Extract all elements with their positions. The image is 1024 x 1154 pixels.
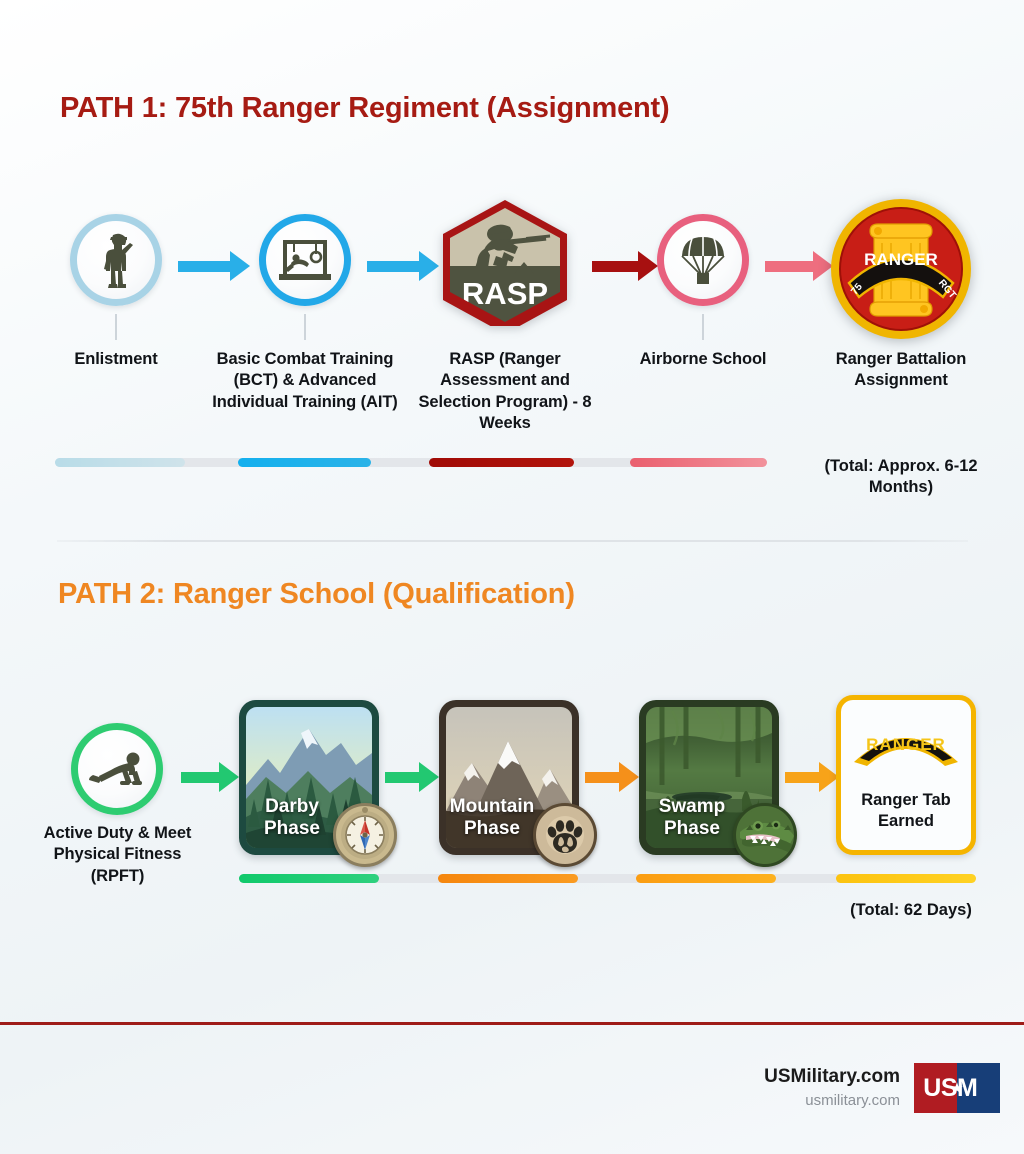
path2-title: PATH 2: Ranger School (Qualification): [58, 578, 575, 611]
phase-card-darby[interactable]: Darby Phase: [239, 700, 379, 855]
path2-seg-3: [636, 874, 776, 883]
caption-ranger-battalion: Ranger Battalion Assignment: [806, 349, 996, 392]
active-duty-ring: [71, 723, 163, 815]
pushup-icon: [89, 751, 145, 787]
section-divider: [57, 540, 968, 542]
path1-seg-4: [630, 458, 767, 467]
caption-bct-ait: Basic Combat Training (BCT) & Advanced I…: [209, 349, 401, 413]
bct-stem: [304, 314, 306, 340]
phase-card-ranger-tab[interactable]: RANGER Ranger Tab Earned: [836, 695, 976, 855]
path1-title: PATH 1: 75th Ranger Regiment (Assignment…: [60, 92, 669, 125]
path2-seg-4: [836, 874, 976, 883]
parachute-icon: [678, 234, 728, 286]
footer-rule: [0, 1022, 1024, 1025]
path1-seg-1: [55, 458, 185, 467]
arrow-mountain-to-swamp: [585, 762, 639, 792]
bear-paw-icon: [533, 803, 597, 867]
caption-airborne: Airborne School: [627, 349, 779, 370]
footer-brand: USMilitary.com: [764, 1066, 900, 1088]
arrow-airborne-to-battalion: [765, 251, 833, 281]
path2-seg-2: [438, 874, 578, 883]
ranger-tab-label: Ranger Tab Earned: [841, 790, 971, 833]
ranger-tab-text: RANGER: [866, 735, 946, 754]
crest-center-text: RANGER: [864, 250, 938, 269]
step-node-airborne[interactable]: [657, 214, 749, 306]
ranger-tab-icon: RANGER: [850, 720, 962, 771]
step-node-active-duty[interactable]: [71, 723, 163, 815]
path1-total: (Total: Approx. 6-12 Months): [806, 456, 996, 499]
arrow-bct-to-rasp: [367, 251, 439, 281]
footer-domain: usmilitary.com: [805, 1092, 900, 1109]
airborne-stem: [702, 314, 704, 340]
path1-seg-2: [238, 458, 371, 467]
arrow-rasp-to-airborne: [592, 251, 658, 281]
airborne-ring: [657, 214, 749, 306]
rasp-hexagon-icon: RASP: [430, 196, 580, 326]
step-node-bct-ait[interactable]: [259, 214, 351, 306]
step-node-enlistment[interactable]: [70, 214, 162, 306]
path1-progress-track: [55, 458, 767, 467]
alligator-icon: [733, 803, 797, 867]
phase-card-mountain[interactable]: Mountain Phase: [439, 700, 579, 855]
logo-star-icon: ★: [950, 1079, 963, 1097]
infographic-canvas: PATH 1: 75th Ranger Regiment (Assignment…: [0, 0, 1024, 1154]
path2-progress-track: [239, 874, 976, 883]
arrow-swamp-to-tab: [785, 762, 839, 792]
ranger-regiment-crest-icon: RANGER 75 RGT: [829, 197, 973, 341]
step-node-rasp[interactable]: RASP: [430, 196, 580, 326]
obstacle-course-icon: [279, 236, 331, 284]
caption-active-duty: Active Duty & Meet Physical Fitness (RPF…: [35, 823, 200, 887]
bct-ring: [259, 214, 351, 306]
compass-icon: [333, 803, 397, 867]
arrow-enlistment-to-bct: [178, 251, 250, 281]
enlistment-ring: [70, 214, 162, 306]
path1-seg-3: [429, 458, 574, 467]
usmilitary-logo[interactable]: US M ★: [914, 1063, 1000, 1113]
arrow-activeduty-to-darby: [181, 762, 239, 792]
phase-card-swamp[interactable]: Swamp Phase: [639, 700, 779, 855]
step-node-ranger-battalion[interactable]: RANGER 75 RGT: [829, 197, 973, 341]
path2-total: (Total: 62 Days): [836, 900, 986, 921]
caption-enlistment: Enlistment: [36, 349, 196, 370]
path2-seg-1: [239, 874, 379, 883]
caption-rasp: RASP (Ranger Assessment and Selection Pr…: [409, 349, 601, 435]
arrow-darby-to-mountain: [385, 762, 439, 792]
enlistment-stem: [115, 314, 117, 340]
saluting-soldier-icon: [94, 231, 138, 289]
